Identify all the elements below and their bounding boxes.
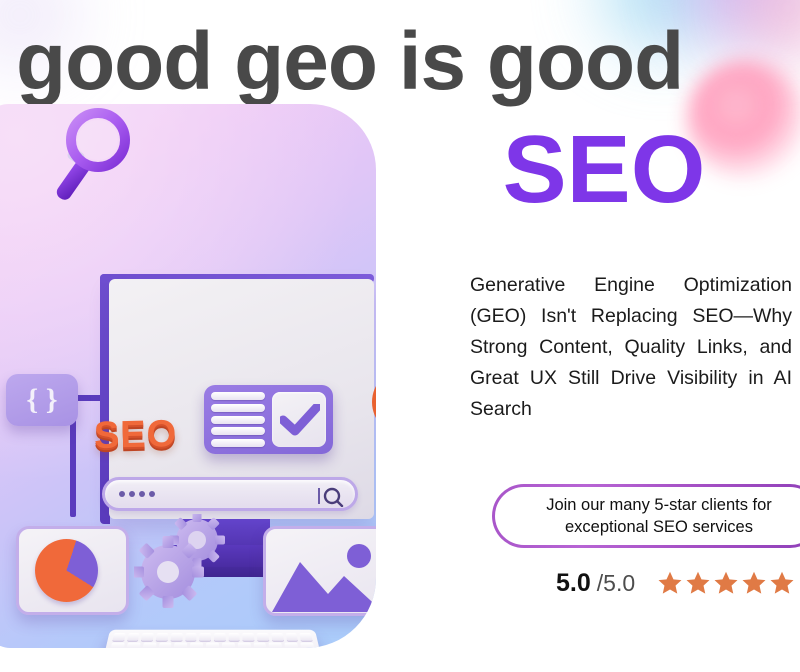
image-placeholder-tile — [263, 526, 376, 616]
star-icon — [657, 570, 683, 596]
image-icon — [270, 534, 376, 614]
gears-icon — [134, 514, 244, 614]
cta-line-2: exceptional SEO services — [521, 516, 797, 538]
search-icon — [317, 485, 345, 507]
cta-text: Join our many 5-star clients for excepti… — [495, 494, 800, 538]
star-icon — [713, 570, 739, 596]
star-icon — [769, 570, 795, 596]
target-board-orange — [368, 362, 376, 438]
check-mark-box — [272, 392, 326, 447]
rating-score: 5.0 — [556, 569, 591, 598]
rating-row: 5.0 /5.0 — [556, 566, 795, 600]
page-title: good geo is good — [16, 14, 796, 110]
checklist-card — [204, 385, 333, 454]
search-input-dots — [119, 491, 155, 497]
keyboard — [102, 630, 324, 648]
search-bar[interactable] — [102, 477, 358, 511]
lede-paragraph: Generative Engine Optimization (GEO) Isn… — [470, 270, 792, 456]
rating-stars — [657, 570, 795, 596]
rating-out-of: /5.0 — [597, 570, 635, 597]
illustration-card: { } SEO — [0, 104, 376, 648]
seo-3d-text: SEO — [93, 413, 177, 458]
magnifying-glass-icon — [46, 106, 138, 214]
code-brackets-tile: { } — [6, 374, 78, 426]
check-icon — [280, 404, 320, 436]
cta-line-1: Join our many 5-star clients for — [521, 494, 797, 516]
poster-canvas: good geo is good — [0, 0, 800, 672]
checklist-rows — [211, 392, 265, 447]
star-icon — [685, 570, 711, 596]
star-icon — [741, 570, 767, 596]
brand-word: SEO — [418, 122, 790, 218]
code-brackets-label: { } — [26, 383, 57, 417]
pie-chart — [35, 539, 98, 602]
cta-pill[interactable]: Join our many 5-star clients for excepti… — [492, 484, 800, 548]
computer-mouse — [342, 644, 376, 648]
pie-chart-tile — [16, 526, 129, 615]
